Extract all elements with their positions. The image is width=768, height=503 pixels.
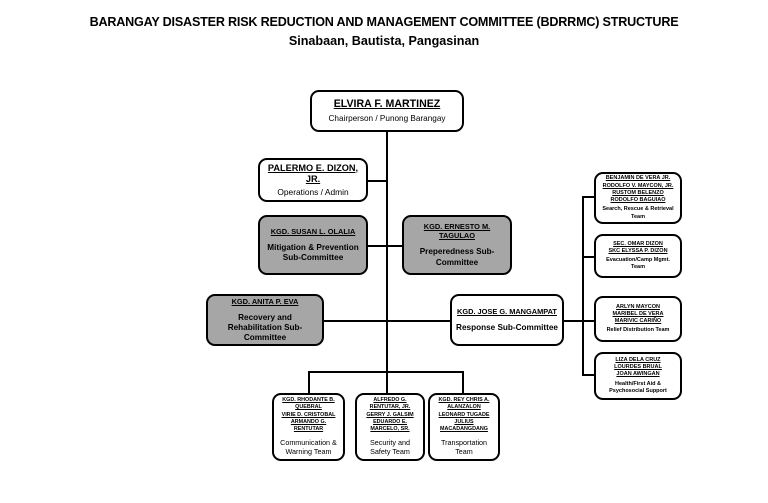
- connector-bottom-drop-2: [386, 371, 388, 393]
- team-member: VIRIE D. CRISTOBAL: [278, 412, 339, 419]
- node-search-rescue-retrieval-team[interactable]: BENJAMIN DE VERA JR. RODOLFO V. MAYCON, …: [594, 172, 682, 224]
- preparedness-role: Preperedness Sub-Committee: [408, 247, 506, 268]
- team-member: LIZA DELA CRUZ: [614, 357, 662, 364]
- team-member: KGD. RHODANTE B. QUEBRAL: [278, 397, 339, 412]
- recovery-name: KGD. ANITA P. EVA: [232, 297, 299, 306]
- org-chart-canvas: BARANGAY DISASTER RISK REDUCTION AND MAN…: [0, 0, 768, 503]
- chart-title-block: BARANGAY DISASTER RISK REDUCTION AND MAN…: [0, 14, 768, 50]
- team-member: LEONARD TUGADE: [434, 412, 494, 419]
- team-role: Communication & Warning Team: [278, 438, 339, 457]
- team-role: Transportation Team: [434, 438, 494, 457]
- team-member: KGD. REY CHRIS A. ALANZALON: [434, 397, 494, 412]
- connector-response-to-right-spine: [562, 320, 584, 322]
- chart-title-line-1: BARANGAY DISASTER RISK REDUCTION AND MAN…: [0, 14, 768, 31]
- node-communication-warning-team[interactable]: KGD. RHODANTE B. QUEBRAL VIRIE D. CRISTO…: [272, 393, 345, 461]
- team-role: Health/First Aid & Psychosocial Support: [600, 381, 676, 395]
- chairperson-role: Chairperson / Punong Barangay: [329, 114, 446, 124]
- connector-to-response: [386, 320, 450, 322]
- response-name: KGD. JOSE G. MANGAMPAT: [457, 307, 557, 316]
- team-members: KGD. RHODANTE B. QUEBRAL VIRIE D. CRISTO…: [278, 397, 339, 434]
- team-member: RODOLFO V. MAYCON, JR.: [603, 183, 674, 190]
- connector-right-spine: [582, 196, 584, 376]
- team-member: JOAN AWINGAN: [614, 371, 662, 378]
- node-health-first-aid-psychosocial-support-team[interactable]: LIZA DELA CRUZ LOURDES BRUAL JOAN AWINGA…: [594, 352, 682, 400]
- node-mitigation-subcommittee[interactable]: KGD. SUSAN L. OLALIA Mitigation & Preven…: [258, 215, 368, 275]
- node-transportation-team[interactable]: KGD. REY CHRIS A. ALANZALON LEONARD TUGA…: [428, 393, 500, 461]
- connector-to-operations: [366, 180, 388, 182]
- team-members: ARLYN MAYCON MARIBEL DE VERA MARIVIC CAR…: [613, 304, 664, 326]
- connector-bottom-drop-3: [462, 371, 464, 393]
- team-member: EDUARDO E. MARCELO, SR.: [361, 419, 419, 434]
- team-members: SEC. OMAR DIZON SKC ELYSSA P. DIZON: [608, 241, 667, 256]
- team-member: JULIUS MACADANGDANG: [434, 419, 494, 434]
- node-security-safety-team[interactable]: ALFREDO G. RENTUTAR, JR. GERRY J. GALSIM…: [355, 393, 425, 461]
- node-recovery-subcommittee[interactable]: KGD. ANITA P. EVA Recovery and Rehabilit…: [206, 294, 324, 346]
- mitigation-role: Mitigation & Prevention Sub-Committee: [264, 243, 362, 264]
- team-member: LOURDES BRUAL: [614, 364, 662, 371]
- team-member: ARMANDO G. RENTUTAR: [278, 419, 339, 434]
- team-member: RUSTOM BELENZO: [603, 190, 674, 197]
- operations-role: Operations / Admin: [277, 187, 348, 198]
- connector-to-recovery: [322, 320, 388, 322]
- operations-name: PALERMO E. DIZON, JR.: [264, 163, 362, 185]
- team-member: SKC ELYSSA P. DIZON: [608, 248, 667, 255]
- team-member: MARIBEL DE VERA: [613, 311, 664, 318]
- connector-main-spine: [386, 131, 388, 373]
- team-member: GERRY J. GALSIM: [361, 412, 419, 419]
- team-member: RODOLFO BAGUIAO: [603, 197, 674, 204]
- team-members: BENJAMIN DE VERA JR. RODOLFO V. MAYCON, …: [603, 175, 674, 204]
- team-role: Evacuation/Camp Mgmt. Team: [600, 257, 676, 271]
- recovery-role: Recovery and Rehabilitation Sub-Committe…: [212, 313, 318, 344]
- team-members: KGD. REY CHRIS A. ALANZALON LEONARD TUGA…: [434, 397, 494, 434]
- node-operations-admin[interactable]: PALERMO E. DIZON, JR. Operations / Admin: [258, 158, 368, 202]
- node-chairperson[interactable]: ELVIRA F. MARTINEZ Chairperson / Punong …: [310, 90, 464, 132]
- team-role: Security and Safety Team: [361, 438, 419, 457]
- chart-title-line-2: Sinabaan, Bautista, Pangasinan: [0, 33, 768, 50]
- mitigation-name: KGD. SUSAN L. OLALIA: [271, 227, 356, 236]
- node-preparedness-subcommittee[interactable]: KGD. ERNESTO M. TAGULAO Preperedness Sub…: [402, 215, 512, 275]
- team-member: SEC. OMAR DIZON: [608, 241, 667, 248]
- preparedness-name: KGD. ERNESTO M. TAGULAO: [408, 222, 506, 240]
- team-member: ARLYN MAYCON: [613, 304, 664, 311]
- node-evacuation-camp-management-team[interactable]: SEC. OMAR DIZON SKC ELYSSA P. DIZON Evac…: [594, 234, 682, 278]
- team-member: BENJAMIN DE VERA JR.: [603, 175, 674, 182]
- chairperson-name: ELVIRA F. MARTINEZ: [334, 98, 441, 111]
- team-member: MARIVIC CARIÑO: [613, 318, 664, 325]
- team-member: ALFREDO G. RENTUTAR, JR.: [361, 397, 419, 412]
- team-members: ALFREDO G. RENTUTAR, JR. GERRY J. GALSIM…: [361, 397, 419, 434]
- node-relief-distribution-team[interactable]: ARLYN MAYCON MARIBEL DE VERA MARIVIC CAR…: [594, 296, 682, 342]
- team-role: Search, Rescue & Retrieval Team: [600, 206, 676, 220]
- node-response-subcommittee[interactable]: KGD. JOSE G. MANGAMPAT Response Sub-Comm…: [450, 294, 564, 346]
- team-members: LIZA DELA CRUZ LOURDES BRUAL JOAN AWINGA…: [614, 357, 662, 379]
- response-role: Response Sub-Committee: [456, 323, 558, 333]
- team-role: Relief Distribution Team: [607, 327, 670, 334]
- connector-bottom-drop-1: [308, 371, 310, 393]
